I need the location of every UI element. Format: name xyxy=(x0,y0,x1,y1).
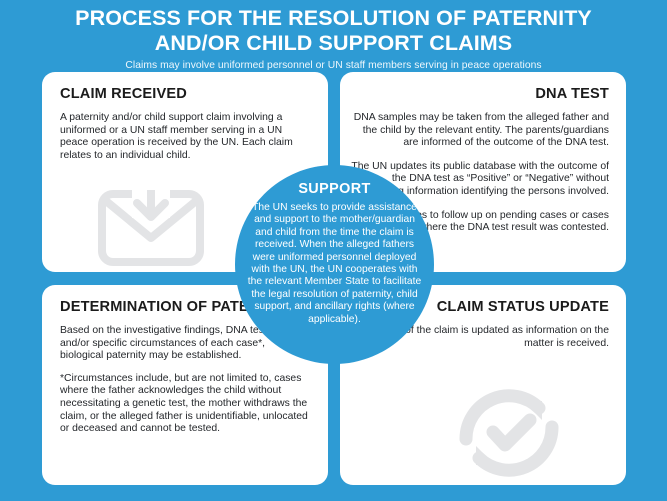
page-title: PROCESS FOR THE RESOLUTION OF PATERNITY … xyxy=(0,6,667,56)
refresh-check-icon xyxy=(446,377,572,485)
support-circle-heading: SUPPORT xyxy=(246,181,423,198)
infographic-header: PROCESS FOR THE RESOLUTION OF PATERNITY … xyxy=(0,0,667,72)
envelope-download-icon xyxy=(98,190,204,266)
card-claim-received-paragraph-1: A paternity and/or child support claim i… xyxy=(60,112,310,162)
page-subtitle: Claims may involve uniformed personnel o… xyxy=(0,59,667,72)
page-title-line-2: AND/OR CHILD SUPPORT CLAIMS xyxy=(0,31,667,56)
card-dna-test-heading: DNA TEST xyxy=(348,86,609,103)
support-circle-body: The UN seeks to provide assistance and s… xyxy=(246,202,423,326)
card-determination-paragraph-2: *Circumstances include, but are not limi… xyxy=(60,373,310,436)
support-circle: SUPPORT The UN seeks to provide assistan… xyxy=(235,165,434,364)
card-claim-received-heading: CLAIM RECEIVED xyxy=(60,86,310,103)
card-dna-test-paragraph-1: DNA samples may be taken from the allege… xyxy=(348,112,609,150)
page-title-line-1: PROCESS FOR THE RESOLUTION OF PATERNITY xyxy=(0,6,667,31)
card-claim-received-content: CLAIM RECEIVED A paternity and/or child … xyxy=(42,72,328,162)
